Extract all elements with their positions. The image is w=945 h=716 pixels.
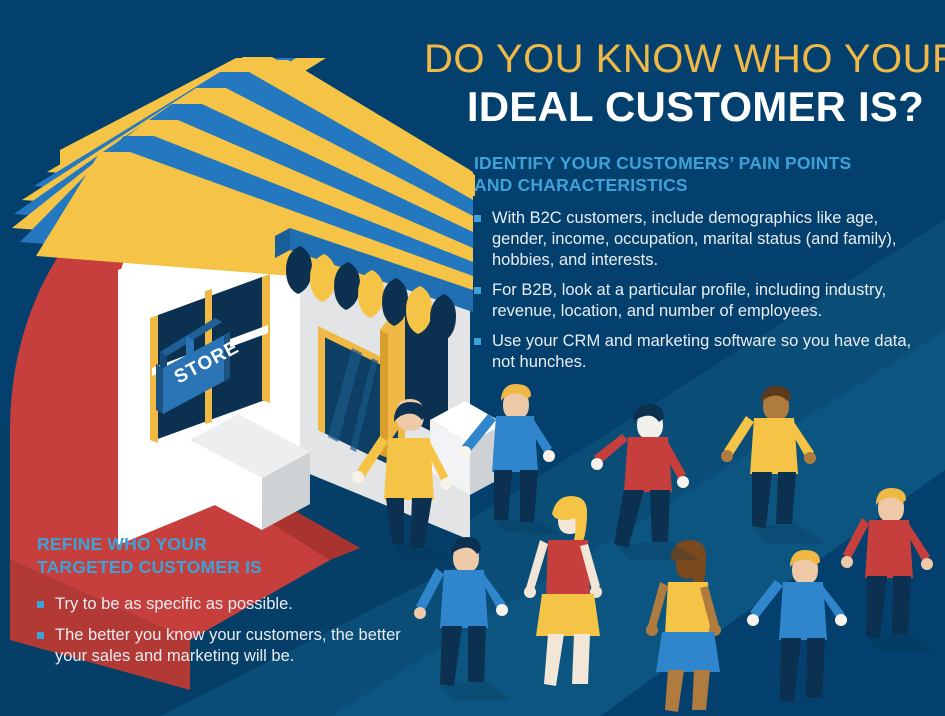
main-title: DO YOU KNOW WHO YOUR IDEAL CUSTOMER IS? <box>424 36 924 132</box>
bullet-square-icon <box>474 287 481 294</box>
bullet-square-icon <box>474 338 481 345</box>
bullet-square-icon <box>37 632 44 639</box>
section2-bullet-list: Try to be as specific as possible. The b… <box>37 594 437 667</box>
section1-heading: IDENTIFY YOUR CUSTOMERS’ PAIN POINTS AND… <box>474 152 924 196</box>
store-sign-text: STORE <box>171 337 243 389</box>
text-overlay: STORE DO YOU KNOW WHO YOUR IDEAL CUSTOME… <box>0 0 945 716</box>
bullet-text: Use your CRM and marketing software so y… <box>492 332 911 371</box>
list-item: The better you know your customers, the … <box>37 625 437 667</box>
title-line-2: IDEAL CUSTOMER IS? <box>424 82 924 132</box>
bullet-text: With B2C customers, include demographics… <box>492 209 896 269</box>
section-refine-target: REFINE WHO YOUR TARGETED CUSTOMER IS Try… <box>37 533 437 677</box>
bullet-text: Try to be as specific as possible. <box>55 595 293 613</box>
bullet-text: For B2B, look at a particular profile, i… <box>492 281 886 320</box>
bullet-square-icon <box>37 601 44 608</box>
list-item: Use your CRM and marketing software so y… <box>474 331 924 373</box>
section2-heading-line1: REFINE WHO YOUR <box>37 533 437 556</box>
section-identify-pain-points: IDENTIFY YOUR CUSTOMERS’ PAIN POINTS AND… <box>474 152 924 382</box>
section2-heading: REFINE WHO YOUR TARGETED CUSTOMER IS <box>37 533 437 579</box>
infographic-canvas: STORE DO YOU KNOW WHO YOUR IDEAL CUSTOME… <box>0 0 945 716</box>
section1-heading-line1: IDENTIFY YOUR CUSTOMERS’ PAIN POINTS <box>474 152 924 174</box>
list-item: Try to be as specific as possible. <box>37 594 437 615</box>
list-item: With B2C customers, include demographics… <box>474 208 924 271</box>
bullet-square-icon <box>474 215 481 222</box>
section1-bullet-list: With B2C customers, include demographics… <box>474 208 924 373</box>
title-line-1: DO YOU KNOW WHO YOUR <box>424 36 924 82</box>
section2-heading-line2: TARGETED CUSTOMER IS <box>37 556 437 579</box>
list-item: For B2B, look at a particular profile, i… <box>474 280 924 322</box>
bullet-text: The better you know your customers, the … <box>55 626 401 665</box>
section1-heading-line2: AND CHARACTERISTICS <box>474 174 924 196</box>
